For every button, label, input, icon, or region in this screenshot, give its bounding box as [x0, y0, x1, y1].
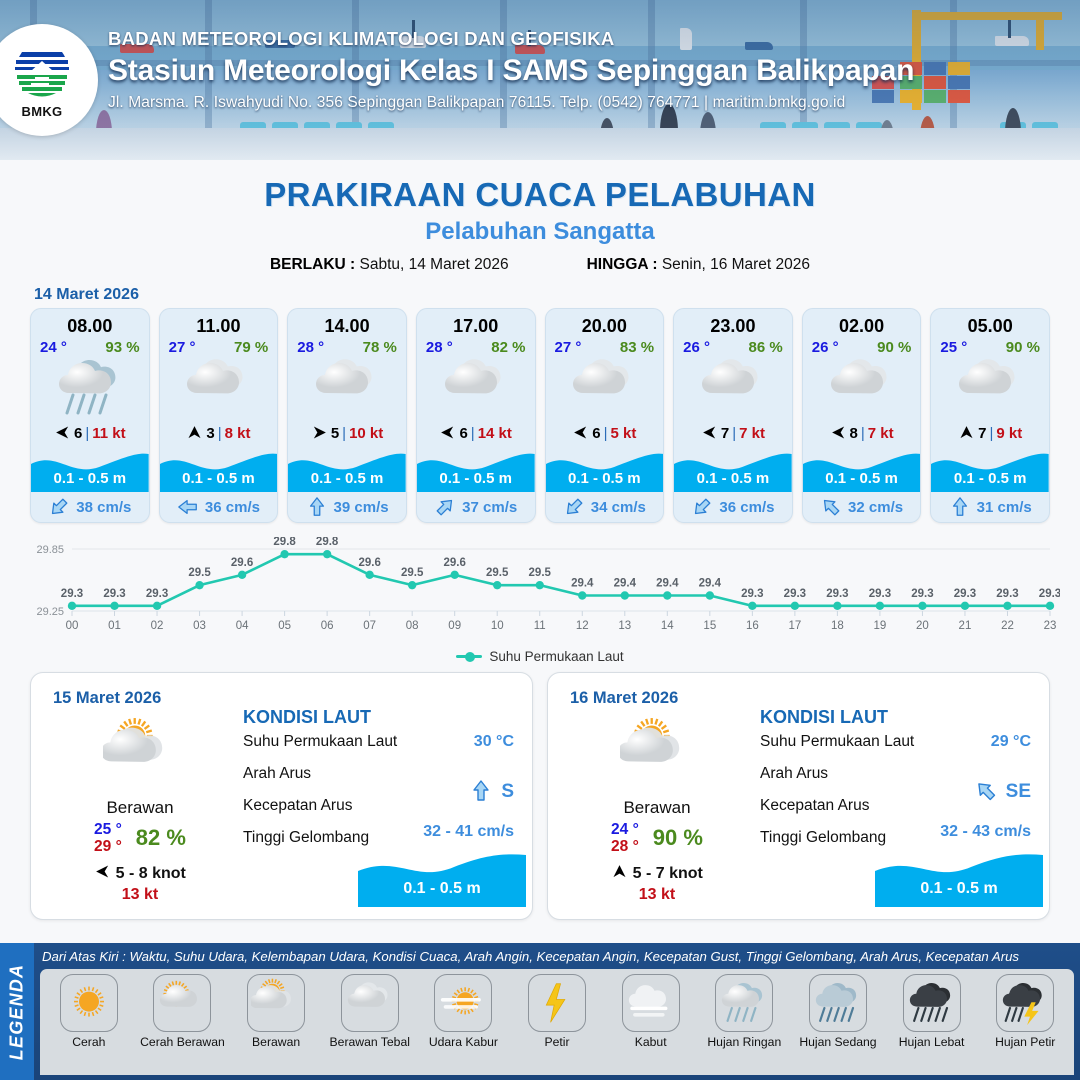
svg-text:09: 09: [448, 620, 461, 632]
card-wind-speed: 3: [206, 425, 214, 442]
card-current: 38 cm/s: [31, 492, 149, 522]
card-wave-height: 0.1 - 0.5 m: [546, 470, 664, 487]
legend-item[interactable]: Hujan Sedang: [791, 974, 885, 1049]
wind-direction-icon: [701, 424, 718, 442]
svg-text:29.25: 29.25: [36, 606, 64, 618]
daily-summary-panel[interactable]: 16 Maret 2026Berawan24 °28 °90 % 5 - 7 k…: [547, 672, 1050, 920]
wind-direction-icon: [830, 424, 847, 442]
svg-text:06: 06: [321, 620, 334, 632]
svg-text:29.3: 29.3: [826, 588, 848, 600]
card-current: 37 cm/s: [417, 492, 535, 522]
card-gust: 7 kt: [868, 425, 894, 442]
panel-left-block: Berawan25 °29 °82 % 5 - 8 knot13 kt: [45, 717, 235, 904]
wind-direction-icon: [94, 863, 111, 882]
legend-panel: CerahCerah BerawanBerawanBerawan TebalUd…: [40, 969, 1074, 1075]
card-current: 36 cm/s: [160, 492, 278, 522]
panel-condition: Berawan: [562, 798, 752, 818]
card-gust: 14 kt: [478, 425, 512, 442]
card-wind-separator: |: [604, 425, 608, 442]
card-wave-height: 0.1 - 0.5 m: [803, 470, 921, 487]
sea-row-current-speed: Kecepatan Arus32 - 41 cm/s: [243, 797, 518, 829]
sea-row-label: Tinggi Gelombang: [760, 829, 886, 846]
legend-item[interactable]: Udara Kabur: [417, 974, 511, 1049]
card-gust: 9 kt: [996, 425, 1022, 442]
forecast-card[interactable]: 08.0024 °93 %6|11 kt0.1 - 0.5 m38 cm/s: [30, 308, 150, 523]
card-wind-speed: 8: [850, 425, 858, 442]
current-direction-icon: [949, 496, 971, 518]
port-name: Pelabuhan Sangatta: [0, 218, 1080, 246]
sea-row-value: 29 °C: [991, 733, 1031, 751]
current-direction-icon: [306, 496, 328, 518]
svg-text:05: 05: [278, 620, 291, 632]
card-current: 36 cm/s: [674, 492, 792, 522]
card-current: 32 cm/s: [803, 492, 921, 522]
agency-name: BADAN METEOROLOGI KLIMATOLOGI DAN GEOFIS…: [108, 28, 1048, 50]
card-current: 31 cm/s: [931, 492, 1049, 522]
panel-wind-speed: 5 - 7 knot: [633, 865, 703, 882]
card-time: 08.00: [31, 309, 149, 339]
wind-direction-icon: [611, 863, 628, 882]
svg-text:10: 10: [491, 620, 504, 632]
wind-direction-icon: [958, 424, 975, 442]
svg-text:12: 12: [576, 620, 589, 632]
card-wave-height: 0.1 - 0.5 m: [160, 470, 278, 487]
svg-text:29.85: 29.85: [36, 544, 64, 556]
panel-temp-max: 29 °: [94, 838, 122, 855]
panel-left-block: Berawan24 °28 °90 % 5 - 7 knot13 kt: [562, 717, 752, 904]
valid-to: HINGGA : Senin, 16 Maret 2026: [587, 256, 810, 274]
partly-cloudy-icon: [562, 717, 752, 796]
svg-text:02: 02: [151, 620, 164, 632]
card-wave-band: 0.1 - 0.5 m: [417, 448, 535, 492]
svg-text:29.4: 29.4: [571, 578, 594, 590]
svg-text:29.3: 29.3: [911, 588, 933, 600]
card-wave-height: 0.1 - 0.5 m: [288, 470, 406, 487]
svg-text:23: 23: [1044, 620, 1057, 632]
valid-from-value: Sabtu, 14 Maret 2026: [360, 256, 509, 273]
card-wave-height: 0.1 - 0.5 m: [31, 470, 149, 487]
wind-direction-icon: [186, 424, 203, 442]
forecast-card[interactable]: 05.0025 °90 %7|9 kt0.1 - 0.5 m31 cm/s: [930, 308, 1050, 523]
card-wind-speed: 5: [331, 425, 339, 442]
forecast-card[interactable]: 17.0028 °82 %6|14 kt0.1 - 0.5 m37 cm/s: [416, 308, 536, 523]
legend-item[interactable]: Petir: [510, 974, 604, 1049]
svg-text:29.8: 29.8: [316, 537, 339, 548]
legend-item-label: Cerah: [72, 1035, 105, 1049]
current-direction-icon: [177, 496, 199, 518]
sea-condition-title: KONDISI LAUT: [243, 707, 518, 728]
legend-tab-label: LEGENDA: [7, 963, 28, 1059]
svg-text:29.5: 29.5: [486, 567, 509, 579]
card-wave-height: 0.1 - 0.5 m: [931, 470, 1049, 487]
wind-direction-icon: [439, 424, 456, 442]
legend-item-label: Cerah Berawan: [140, 1035, 225, 1049]
svg-text:29.4: 29.4: [614, 578, 637, 590]
panel-gust: 13 kt: [562, 886, 752, 904]
panel-wave-height: 0.1 - 0.5 m: [875, 880, 1043, 898]
svg-text:04: 04: [236, 620, 249, 632]
svg-text:07: 07: [363, 620, 376, 632]
page-title: PRAKIRAAN CUACA PELABUHAN: [0, 176, 1080, 214]
legend-series-label: Suhu Permukaan Laut: [489, 649, 623, 664]
forecast-card-row: 08.0024 °93 %6|11 kt0.1 - 0.5 m38 cm/s11…: [0, 308, 1080, 523]
legend-item[interactable]: Cerah: [42, 974, 136, 1049]
fog-icon: [622, 974, 680, 1032]
sun-cloud-icon: [153, 974, 211, 1032]
legend-item-label: Hujan Petir: [995, 1035, 1055, 1049]
sea-row-current-direction: Arah ArusSE: [760, 765, 1035, 797]
legend-item-label: Hujan Sedang: [799, 1035, 876, 1049]
panel-wave-band: 0.1 - 0.5 m: [358, 849, 526, 907]
moderate-rain-icon: [809, 974, 867, 1032]
cloudy-icon: [931, 358, 1049, 418]
panel-sea-block: KONDISI LAUTSuhu Permukaan Laut29 °CArah…: [760, 707, 1035, 861]
card-wave-band: 0.1 - 0.5 m: [803, 448, 921, 492]
card-wave-height: 0.1 - 0.5 m: [674, 470, 792, 487]
current-direction-icon: [434, 496, 456, 518]
cloudy-icon: [160, 358, 278, 418]
cloudy-icon: [803, 358, 921, 418]
svg-text:22: 22: [1001, 620, 1014, 632]
legend-tab: LEGENDA: [0, 943, 34, 1080]
current-direction-icon: [563, 496, 585, 518]
svg-text:29.8: 29.8: [273, 537, 296, 548]
sea-row-label: Kecepatan Arus: [760, 797, 869, 814]
svg-text:29.3: 29.3: [146, 588, 168, 600]
svg-text:14: 14: [661, 620, 674, 632]
legend-item[interactable]: Kabut: [604, 974, 698, 1049]
cloudy-icon: [417, 358, 535, 418]
validity-row: BERLAKU : Sabtu, 14 Maret 2026 HINGGA : …: [0, 256, 1080, 274]
panel-sea-block: KONDISI LAUTSuhu Permukaan Laut30 °CArah…: [243, 707, 518, 861]
legend-item[interactable]: Hujan Ringan: [697, 974, 791, 1049]
panel-temps: 25 °29 °82 %: [45, 821, 235, 856]
sun-icon: [60, 974, 118, 1032]
svg-text:29.6: 29.6: [231, 557, 253, 569]
header-banner: BMKG BADAN METEOROLOGI KLIMATOLOGI DAN G…: [0, 0, 1080, 160]
forecast-card[interactable]: 20.0027 °83 %6|5 kt0.1 - 0.5 m34 cm/s: [545, 308, 665, 523]
panel-temp-range: 25 °29 °: [94, 821, 122, 856]
card-current-speed: 32 cm/s: [848, 499, 903, 516]
current-direction-icon: [820, 496, 842, 518]
banner-text-block: BADAN METEOROLOGI KLIMATOLOGI DAN GEOFIS…: [108, 28, 1048, 112]
legend-item-label: Kabut: [635, 1035, 667, 1049]
panel-wind: 5 - 7 knot: [562, 863, 752, 883]
card-time: 05.00: [931, 309, 1049, 339]
card-time: 11.00: [160, 309, 278, 339]
card-current-speed: 39 cm/s: [334, 499, 389, 516]
valid-to-value: Senin, 16 Maret 2026: [662, 256, 810, 273]
svg-text:29.3: 29.3: [1039, 588, 1060, 600]
svg-text:11: 11: [534, 620, 546, 632]
sea-condition-title: KONDISI LAUT: [760, 707, 1035, 728]
card-current: 34 cm/s: [546, 492, 664, 522]
haze-icon: [434, 974, 492, 1032]
sea-row-sst: Suhu Permukaan Laut29 °C: [760, 733, 1035, 765]
forecast-card[interactable]: 23.0026 °86 %7|7 kt0.1 - 0.5 m36 cm/s: [673, 308, 793, 523]
sea-row-label: Suhu Permukaan Laut: [243, 733, 397, 750]
svg-text:13: 13: [618, 620, 631, 632]
legend-item[interactable]: Cerah Berawan: [136, 974, 230, 1049]
forecast-card[interactable]: 11.0027 °79 %3|8 kt0.1 - 0.5 m36 cm/s: [159, 308, 279, 523]
card-wind-speed: 6: [74, 425, 82, 442]
light-rain-icon: [31, 358, 149, 418]
forecast-card[interactable]: 14.0028 °78 %5|10 kt0.1 - 0.5 m39 cm/s: [287, 308, 407, 523]
card-wave-band: 0.1 - 0.5 m: [160, 448, 278, 492]
card-wind-separator: |: [732, 425, 736, 442]
card-wind-separator: |: [218, 425, 222, 442]
svg-text:00: 00: [66, 620, 79, 632]
title-block: PRAKIRAAN CUACA PELABUHAN Pelabuhan Sang…: [0, 176, 1080, 274]
sea-row-label: Arah Arus: [760, 765, 828, 782]
card-time: 23.00: [674, 309, 792, 339]
wind-direction-icon: [311, 424, 328, 442]
card-gust: 8 kt: [225, 425, 251, 442]
sea-row-label: Kecepatan Arus: [243, 797, 352, 814]
panel-temp-max: 28 °: [611, 838, 639, 855]
svg-text:29.4: 29.4: [656, 578, 679, 590]
panel-condition: Berawan: [45, 798, 235, 818]
card-wind-separator: |: [342, 425, 346, 442]
current-direction-icon: [48, 496, 70, 518]
card-time: 17.00: [417, 309, 535, 339]
svg-text:15: 15: [703, 620, 716, 632]
card-current-speed: 34 cm/s: [591, 499, 646, 516]
chart-legend: Suhu Permukaan Laut: [0, 649, 1080, 664]
legend-item-label: Berawan Tebal: [330, 1035, 410, 1049]
forecast-date-label: 14 Maret 2026: [34, 286, 1080, 304]
card-wind-separator: |: [861, 425, 865, 442]
legend-item-label: Udara Kabur: [429, 1035, 498, 1049]
panel-wave-band: 0.1 - 0.5 m: [875, 849, 1043, 907]
panel-wave-height: 0.1 - 0.5 m: [358, 880, 526, 898]
sea-row-value: 30 °C: [474, 733, 514, 751]
legend-item-label: Hujan Lebat: [899, 1035, 965, 1049]
card-current-speed: 36 cm/s: [205, 499, 260, 516]
legend-item[interactable]: Hujan Lebat: [885, 974, 979, 1049]
svg-text:03: 03: [193, 620, 206, 632]
cloudy-icon: [288, 358, 406, 418]
light-rain-icon: [715, 974, 773, 1032]
card-gust: 5 kt: [611, 425, 637, 442]
card-wind-separator: |: [85, 425, 89, 442]
valid-from: BERLAKU : Sabtu, 14 Maret 2026: [270, 256, 509, 274]
card-wave-band: 0.1 - 0.5 m: [288, 448, 406, 492]
legend-strip: LEGENDA Dari Atas Kiri : Waktu, Suhu Uda…: [0, 943, 1080, 1080]
cloudy-icon: [674, 358, 792, 418]
bmkg-logo-text: BMKG: [22, 104, 63, 119]
card-wind-speed: 6: [592, 425, 600, 442]
panel-wind-speed: 5 - 8 knot: [116, 865, 186, 882]
card-wind-speed: 7: [978, 425, 986, 442]
svg-text:29.3: 29.3: [784, 588, 806, 600]
current-direction-icon: [691, 496, 713, 518]
svg-text:29.5: 29.5: [188, 567, 211, 579]
card-wind-speed: 7: [721, 425, 729, 442]
svg-text:21: 21: [959, 620, 972, 632]
card-wave-band: 0.1 - 0.5 m: [931, 448, 1049, 492]
card-gust: 10 kt: [349, 425, 383, 442]
card-gust: 7 kt: [739, 425, 765, 442]
svg-text:18: 18: [831, 620, 844, 632]
card-wave-band: 0.1 - 0.5 m: [674, 448, 792, 492]
svg-text:20: 20: [916, 620, 929, 632]
legend-item-label: Hujan Ringan: [707, 1035, 781, 1049]
panel-date: 16 Maret 2026: [570, 689, 678, 708]
daily-summary-panel[interactable]: 15 Maret 2026Berawan25 °29 °82 % 5 - 8 k…: [30, 672, 533, 920]
card-gust: 11 kt: [92, 425, 125, 442]
panel-wind: 5 - 8 knot: [45, 863, 235, 883]
daily-summary-panels: 15 Maret 2026Berawan25 °29 °82 % 5 - 8 k…: [0, 672, 1080, 920]
sea-row-label: Tinggi Gelombang: [243, 829, 369, 846]
panel-temp-range: 24 °28 °: [611, 821, 639, 856]
svg-text:29.4: 29.4: [699, 578, 722, 590]
thunderstorm-icon: [996, 974, 1054, 1032]
panel-temp-min: 24 °: [611, 821, 639, 838]
svg-text:29.3: 29.3: [741, 588, 763, 600]
cloudy-icon: [341, 974, 399, 1032]
card-current-speed: 37 cm/s: [462, 499, 517, 516]
card-current: 39 cm/s: [288, 492, 406, 522]
svg-text:17: 17: [788, 620, 801, 632]
svg-text:16: 16: [746, 620, 759, 632]
svg-text:29.6: 29.6: [444, 557, 466, 569]
card-current-speed: 38 cm/s: [76, 499, 131, 516]
svg-text:29.3: 29.3: [869, 588, 891, 600]
svg-text:29.6: 29.6: [358, 557, 380, 569]
legend-line-marker: [456, 655, 482, 658]
cloudy-icon: [546, 358, 664, 418]
sea-row-sst: Suhu Permukaan Laut30 °C: [243, 733, 518, 765]
lightning-icon: [528, 974, 586, 1032]
legend-note: Dari Atas Kiri : Waktu, Suhu Udara, Kele…: [42, 949, 1074, 964]
panel-temp-min: 25 °: [94, 821, 122, 838]
card-time: 14.00: [288, 309, 406, 339]
station-address: Jl. Marsma. R. Iswahyudi No. 356 Sepingg…: [108, 94, 1048, 112]
card-wind-separator: |: [471, 425, 475, 442]
legend-item-label: Petir: [544, 1035, 569, 1049]
partly-cloudy-icon: [45, 717, 235, 796]
svg-text:29.3: 29.3: [954, 588, 976, 600]
card-wave-height: 0.1 - 0.5 m: [417, 470, 535, 487]
panel-humidity: 82 %: [136, 825, 186, 851]
valid-to-label: HINGGA :: [587, 256, 658, 273]
card-time: 02.00: [803, 309, 921, 339]
svg-text:01: 01: [108, 620, 121, 632]
card-wind-speed: 6: [459, 425, 467, 442]
panel-humidity: 90 %: [653, 825, 703, 851]
card-wave-band: 0.1 - 0.5 m: [31, 448, 149, 492]
svg-text:29.5: 29.5: [529, 567, 552, 579]
legend-item[interactable]: Berawan: [229, 974, 323, 1049]
svg-text:08: 08: [406, 620, 419, 632]
legend-item[interactable]: Berawan Tebal: [323, 974, 417, 1049]
svg-text:29.3: 29.3: [996, 588, 1018, 600]
sst-chart: 29.8529.2529.30029.30129.30229.50329.604…: [20, 537, 1060, 647]
wind-direction-icon: [572, 424, 589, 442]
svg-text:19: 19: [874, 620, 887, 632]
panel-temps: 24 °28 °90 %: [562, 821, 752, 856]
panel-date: 15 Maret 2026: [53, 689, 161, 708]
card-wind-separator: |: [989, 425, 993, 442]
sea-row-label: Arah Arus: [243, 765, 311, 782]
sea-row-label: Suhu Permukaan Laut: [760, 733, 914, 750]
valid-from-label: BERLAKU :: [270, 256, 355, 273]
partly-cloudy-icon: [247, 974, 305, 1032]
wind-direction-icon: [54, 424, 71, 442]
card-time: 20.00: [546, 309, 664, 339]
sea-row-current-direction: Arah ArusS: [243, 765, 518, 797]
legend-item-row: CerahCerah BerawanBerawanBerawan TebalUd…: [40, 969, 1074, 1049]
legend-item-label: Berawan: [252, 1035, 300, 1049]
heavy-rain-icon: [903, 974, 961, 1032]
svg-text:29.3: 29.3: [61, 588, 83, 600]
card-wave-band: 0.1 - 0.5 m: [546, 448, 664, 492]
station-name: Stasiun Meteorologi Kelas I SAMS Sepingg…: [108, 54, 1048, 88]
svg-text:29.3: 29.3: [103, 588, 125, 600]
svg-text:29.5: 29.5: [401, 567, 424, 579]
panel-gust: 13 kt: [45, 886, 235, 904]
card-current-speed: 36 cm/s: [719, 499, 774, 516]
forecast-card[interactable]: 02.0026 °90 %8|7 kt0.1 - 0.5 m32 cm/s: [802, 308, 922, 523]
legend-item[interactable]: Hujan Petir: [978, 974, 1072, 1049]
card-current-speed: 31 cm/s: [977, 499, 1032, 516]
sea-row-current-speed: Kecepatan Arus32 - 43 cm/s: [760, 797, 1035, 829]
bmkg-emblem-icon: [11, 41, 73, 103]
